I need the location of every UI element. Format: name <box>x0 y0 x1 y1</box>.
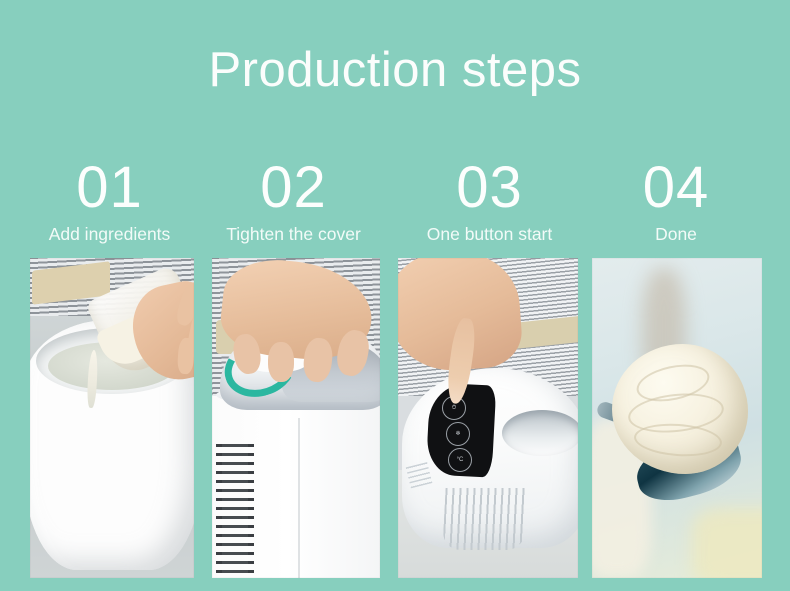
bowl-opening <box>502 410 578 456</box>
steps-header-row: 01 Add ingredients 02 Tighten the cover … <box>0 155 790 255</box>
step-number-2: 02 <box>206 155 381 221</box>
photo-finished-ice-cream <box>592 258 762 578</box>
step-number-3: 03 <box>402 155 577 221</box>
step-caption-4: Done <box>590 223 762 245</box>
finger <box>268 342 294 382</box>
finger <box>177 337 194 374</box>
step-caption-1: Add ingredients <box>22 223 197 245</box>
step-caption-2: Tighten the cover <box>206 223 381 245</box>
page-title: Production steps <box>0 46 790 95</box>
step-header-2: 02 Tighten the cover <box>206 155 381 255</box>
photo-one-button-start: ⏱ ❄ °C <box>398 258 578 578</box>
side-vent-slots-inner <box>222 444 248 578</box>
step-header-3: 03 One button start <box>402 155 577 255</box>
photo-tighten-cover <box>212 258 380 578</box>
mode-button[interactable]: ❄ <box>446 422 470 446</box>
step-caption-3: One button start <box>402 223 577 245</box>
photo-pouring-ingredients <box>30 258 194 578</box>
step-header-1: 01 Add ingredients <box>22 155 197 255</box>
temperature-button[interactable]: °C <box>448 448 472 472</box>
production-steps-poster: Production steps 01 Add ingredients 02 T… <box>0 0 790 591</box>
body-seam <box>298 418 300 578</box>
step-number-1: 01 <box>22 155 197 221</box>
step-header-4: 04 Done <box>590 155 762 255</box>
background-blur-shape <box>692 508 762 578</box>
front-vent-slats <box>442 488 527 550</box>
step-number-4: 04 <box>590 155 762 221</box>
